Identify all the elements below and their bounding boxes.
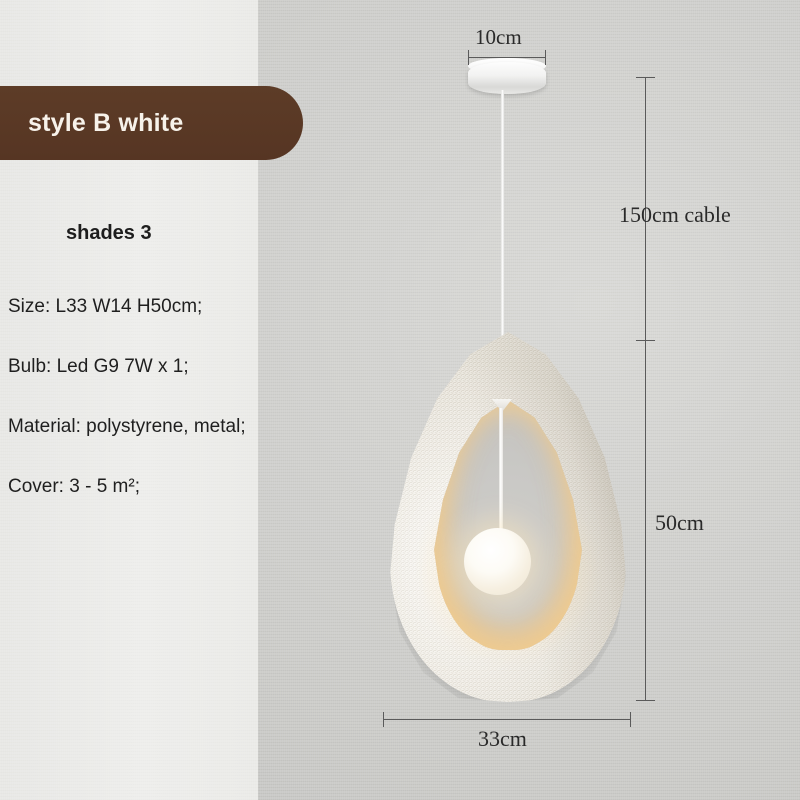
dimension-label-canopy-width: 10cm [475, 25, 522, 50]
dimension-label-shade-height: 50cm [655, 510, 704, 536]
dimension-tick-width-right [630, 712, 631, 727]
dimension-tick-shade-bottom [636, 700, 655, 701]
bulb-suspension-rod [499, 408, 503, 534]
dimension-tick-canopy-left [468, 50, 469, 65]
ceiling-canopy [468, 62, 546, 94]
dimension-tick-width-left [383, 712, 384, 727]
dimension-label-shade-width: 33cm [478, 726, 527, 752]
dimension-line-shade-width [383, 719, 631, 720]
pendant-lamp-illustration [0, 0, 800, 800]
dimension-tick-cable-top [636, 77, 655, 78]
dimension-line-shade-height [645, 340, 646, 700]
suspension-cable [501, 90, 504, 340]
dimension-tick-canopy-right [545, 50, 546, 65]
product-spec-image: style B white shades 3 Size: L33 W14 H50… [0, 0, 800, 800]
globe-bulb [464, 528, 531, 595]
dimension-label-cable-length: 150cm cable [615, 202, 735, 228]
dimension-line-canopy-width [468, 57, 546, 58]
